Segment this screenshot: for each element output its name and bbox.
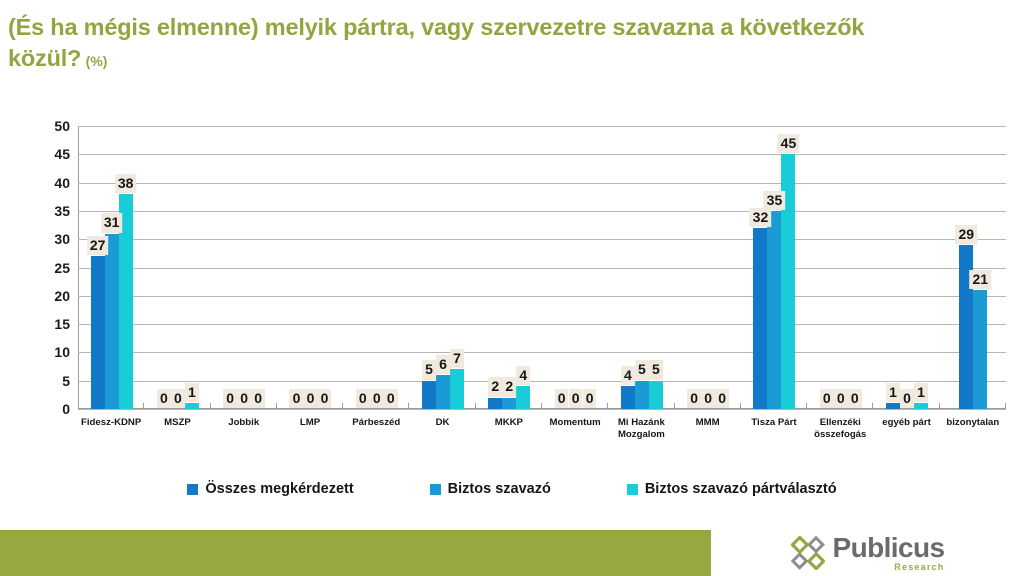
bar-group[interactable]: 000 [343, 126, 409, 409]
x-axis-category-label: bizonytalan [940, 417, 1006, 459]
publicus-diamond-icon [791, 536, 825, 570]
chart-legend: Összes megkérdezettBiztos szavazóBiztos … [0, 472, 1024, 506]
x-axis-category-label: Momentum [542, 417, 608, 459]
bar[interactable]: 7 [450, 369, 464, 409]
legend-label: Összes megkérdezett [205, 481, 353, 497]
bar-value-label: 0 [251, 389, 265, 408]
bar-value-label: 0 [900, 389, 914, 408]
bar-value-label: 0 [171, 389, 185, 408]
legend-color-swatch [187, 484, 198, 495]
bar-value-label: 2 [488, 377, 502, 396]
y-axis-tick-label: 0 [30, 401, 70, 417]
logo-name: Publicus [833, 534, 945, 562]
bar[interactable]: 32 [753, 228, 767, 409]
bar-value-label: 29 [956, 225, 978, 244]
y-axis-tick-label: 50 [30, 118, 70, 134]
bar-value-label: 1 [914, 383, 928, 402]
bar-group[interactable]: 000 [542, 126, 608, 409]
legend-item[interactable]: Biztos szavazó [430, 481, 551, 497]
bar[interactable]: 2 [502, 398, 516, 409]
bar[interactable]: 1 [886, 403, 900, 409]
x-axis-labels: Fidesz-KDNPMSZPJobbikLMPPárbeszédDKMKKPM… [78, 417, 1006, 459]
bar-group[interactable]: 323545 [741, 126, 807, 409]
bar[interactable]: 1 [185, 403, 199, 409]
publicus-logo: Publicus Research [791, 534, 945, 572]
bar-value-label: 0 [555, 389, 569, 408]
y-axis-tick-label: 20 [30, 288, 70, 304]
bar-group[interactable]: 000 [807, 126, 873, 409]
bar-value-label: 2 [502, 377, 516, 396]
x-axis-category-label: Fidesz-KDNP [78, 417, 144, 459]
bar-value-label: 5 [635, 360, 649, 379]
chart-area: 05101520253035404550 2731380010000000005… [0, 112, 1024, 472]
x-axis-category-label: DK [409, 417, 475, 459]
bar-value-label: 5 [422, 360, 436, 379]
bar-value-label: 0 [384, 389, 398, 408]
bar[interactable]: 2 [488, 398, 502, 409]
x-axis-category-label: Párbeszéd [343, 417, 409, 459]
bar-value-label: 27 [87, 236, 109, 255]
legend-label: Biztos szavazó pártválasztó [645, 481, 837, 497]
bar-group[interactable]: 001 [144, 126, 210, 409]
bar-group[interactable]: 273138 [78, 126, 144, 409]
bar[interactable]: 31 [105, 234, 119, 409]
bar-value-label: 0 [848, 389, 862, 408]
bar-value-label: 0 [356, 389, 370, 408]
bar-value-label: 6 [436, 355, 450, 374]
bar-value-label: 0 [820, 389, 834, 408]
bar[interactable]: 4 [516, 386, 530, 409]
bar-value-label: 0 [223, 389, 237, 408]
bar-value-label: 0 [701, 389, 715, 408]
bar-value-label: 1 [886, 383, 900, 402]
legend-item[interactable]: Biztos szavazó pártválasztó [627, 481, 837, 497]
y-axis-tick-label: 45 [30, 146, 70, 162]
bar-value-label: 0 [304, 389, 318, 408]
y-axis-tick-label: 5 [30, 373, 70, 389]
title-block: (És ha mégis elmenne) melyik pártra, vag… [8, 12, 908, 74]
bar-value-label: 0 [290, 389, 304, 408]
title-unit: (%) [86, 53, 108, 69]
bar-group[interactable]: 224 [476, 126, 542, 409]
footer-logo-area: Publicus Research [711, 530, 1024, 576]
bar-value-label: 0 [370, 389, 384, 408]
y-axis-tick-label: 25 [30, 260, 70, 276]
y-axis-tick-label: 10 [30, 344, 70, 360]
bar-value-label: 0 [715, 389, 729, 408]
legend-label: Biztos szavazó [448, 481, 551, 497]
bar-value-label: 4 [621, 366, 635, 385]
plot-area: 05101520253035404550 2731380010000000005… [78, 126, 1006, 409]
bar[interactable]: 4 [621, 386, 635, 409]
legend-color-swatch [430, 484, 441, 495]
y-axis-tick-label: 35 [30, 203, 70, 219]
x-axis-category-label: Tisza Párt [741, 417, 807, 459]
logo-subtitle: Research [833, 563, 945, 572]
x-axis-category-label: LMP [277, 417, 343, 459]
bar[interactable]: 35 [767, 211, 781, 409]
bar-value-label: 0 [157, 389, 171, 408]
bar-value-label: 0 [569, 389, 583, 408]
bar-group[interactable]: 101 [873, 126, 939, 409]
logo-text: Publicus Research [833, 534, 945, 572]
bar-value-label: 4 [516, 366, 530, 385]
x-axis-category-label: Mi Hazánk Mozgalom [608, 417, 674, 459]
bar-value-label: 32 [750, 208, 772, 227]
bar-value-label: 1 [185, 383, 199, 402]
bar-group[interactable]: 000 [675, 126, 741, 409]
bar-value-label: 35 [764, 191, 786, 210]
y-axis-tick-label: 15 [30, 316, 70, 332]
x-axis-tick [1005, 403, 1006, 409]
bar[interactable]: 1 [914, 403, 928, 409]
bar-group[interactable]: 567 [409, 126, 475, 409]
bar[interactable]: 5 [635, 381, 649, 409]
bar-group[interactable]: 000 [277, 126, 343, 409]
legend-item[interactable]: Összes megkérdezett [187, 481, 353, 497]
bar-value-label: 21 [970, 270, 992, 289]
x-axis-category-label: MKKP [476, 417, 542, 459]
bar-value-label: 0 [687, 389, 701, 408]
x-axis-category-label: egyéb párt [873, 417, 939, 459]
bar[interactable]: 27 [91, 256, 105, 409]
page-title: (És ha mégis elmenne) melyik pártra, vag… [8, 14, 864, 71]
bar-group[interactable]: 455 [608, 126, 674, 409]
bar[interactable]: 5 [422, 381, 436, 409]
bar[interactable]: 21 [973, 290, 987, 409]
gridline [78, 409, 1006, 410]
legend-color-swatch [627, 484, 638, 495]
bar-value-label: 0 [318, 389, 332, 408]
x-axis-category-label: MMM [675, 417, 741, 459]
bar[interactable]: 5 [649, 381, 663, 409]
bar-value-label: 38 [115, 174, 137, 193]
bar-value-label: 0 [237, 389, 251, 408]
bar-group[interactable]: 2921 [940, 126, 1006, 409]
bar-value-label: 0 [834, 389, 848, 408]
bar-value-label: 7 [450, 349, 464, 368]
bar[interactable]: 6 [436, 375, 450, 409]
x-axis-category-label: Jobbik [211, 417, 277, 459]
bar-value-label: 5 [649, 360, 663, 379]
bar-value-label: 0 [583, 389, 597, 408]
y-axis-tick-label: 30 [30, 231, 70, 247]
bars-container: 2731380010000000005672240004550003235450… [78, 126, 1006, 409]
bar-value-label: 45 [778, 134, 800, 153]
x-axis-category-label: MSZP [144, 417, 210, 459]
bar-value-label: 31 [101, 213, 123, 232]
y-axis-tick-label: 40 [30, 175, 70, 191]
x-axis-category-label: Ellenzéki összefogás [807, 417, 873, 459]
bar-group[interactable]: 000 [211, 126, 277, 409]
